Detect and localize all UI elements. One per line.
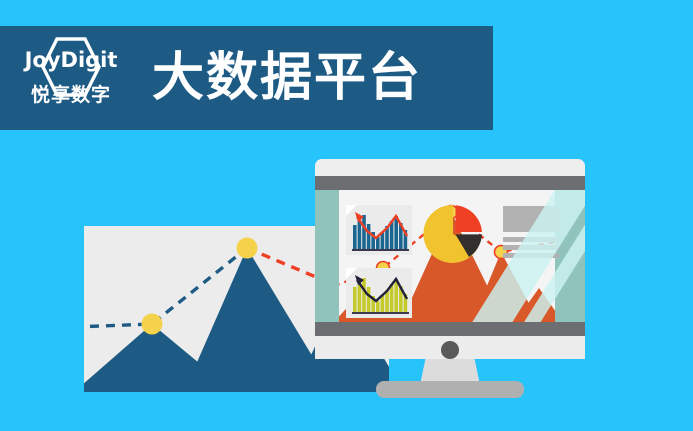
pie-chart — [421, 202, 485, 266]
page-title: 大数据平台 — [152, 52, 422, 104]
monitor-base — [376, 381, 524, 398]
header-banner: JoyDigit 悦享数字 大数据平台 — [0, 26, 493, 130]
desktop-monitor — [315, 159, 585, 387]
data-point-marker — [237, 238, 258, 259]
monitor-top-bezel — [315, 176, 585, 190]
card-corner-fold — [346, 205, 357, 216]
power-button-icon[interactable] — [441, 341, 459, 359]
logo-wordmark: JoyDigit — [25, 50, 118, 71]
bar-chart-card-blue — [346, 205, 412, 255]
monitor-bottom-bezel — [315, 322, 585, 336]
logo-subtitle: 悦享数字 — [31, 86, 111, 105]
brand-logo: JoyDigit 悦享数字 — [12, 30, 130, 126]
card-corner-fold — [346, 268, 357, 279]
monitor-screen — [315, 190, 585, 322]
screen-side-band-left — [315, 190, 339, 322]
illustration-stage: JoyDigit 悦享数字 大数据平台 — [0, 0, 693, 431]
bar-chart-card-yellow — [346, 268, 412, 318]
pie-slice-red — [456, 205, 483, 232]
data-point-marker — [142, 314, 163, 335]
